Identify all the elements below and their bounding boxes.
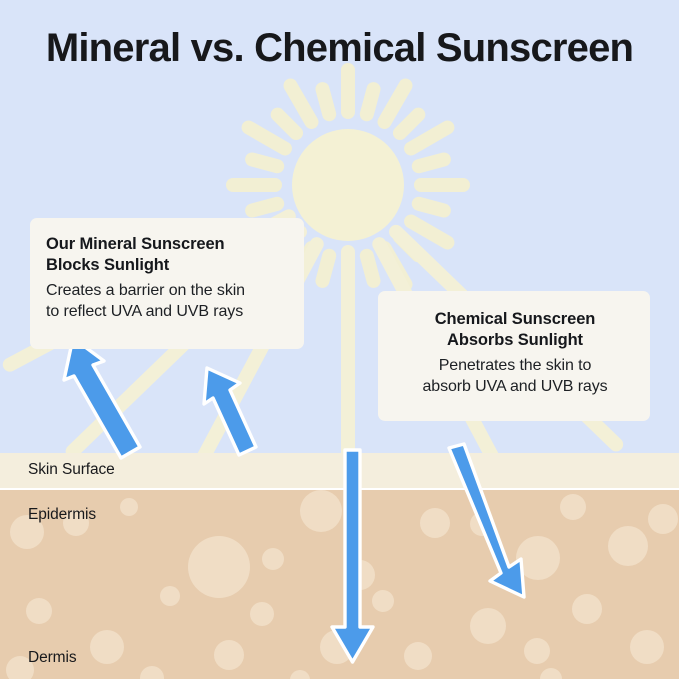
chemical-callout-title: Chemical Sunscreen Absorbs Sunlight [398, 309, 632, 351]
label-skin-surface: Skin Surface [28, 461, 115, 479]
mineral-title-line-1: Our Mineral Sunscreen [46, 235, 225, 253]
chemical-sunscreen-callout: Chemical Sunscreen Absorbs Sunlight Pene… [378, 291, 650, 421]
absorbed-ray-arrow-diagonal [449, 444, 524, 597]
chemical-title-line-1: Chemical Sunscreen [435, 310, 596, 328]
mineral-title-line-2: Blocks Sunlight [46, 256, 169, 274]
absorbed-ray-arrow-vertical [332, 450, 373, 662]
reflected-ray-arrow-inner [204, 368, 256, 455]
label-dermis: Dermis [28, 649, 76, 667]
chemical-callout-body: Penetrates the skin to absorb UVA and UV… [398, 356, 632, 398]
chemical-title-line-2: Absorbs Sunlight [447, 331, 583, 349]
mineral-sunscreen-callout: Our Mineral Sunscreen Blocks Sunlight Cr… [30, 218, 304, 349]
mineral-body-line-2: to reflect UVA and UVB rays [46, 303, 243, 320]
mineral-body-line-1: Creates a barrier on the skin [46, 282, 245, 299]
sunscreen-infographic: Mineral vs. Chemical Sunscreen Our Miner… [0, 0, 679, 679]
chemical-body-line-1: Penetrates the skin to [439, 357, 592, 374]
reflected-ray-arrow-outer [64, 338, 140, 458]
chemical-body-line-2: absorb UVA and UVB rays [422, 378, 607, 395]
mineral-callout-title: Our Mineral Sunscreen Blocks Sunlight [46, 234, 286, 276]
label-epidermis: Epidermis [28, 506, 96, 524]
page-title: Mineral vs. Chemical Sunscreen [0, 26, 679, 72]
mineral-callout-body: Creates a barrier on the skin to reflect… [46, 281, 286, 323]
